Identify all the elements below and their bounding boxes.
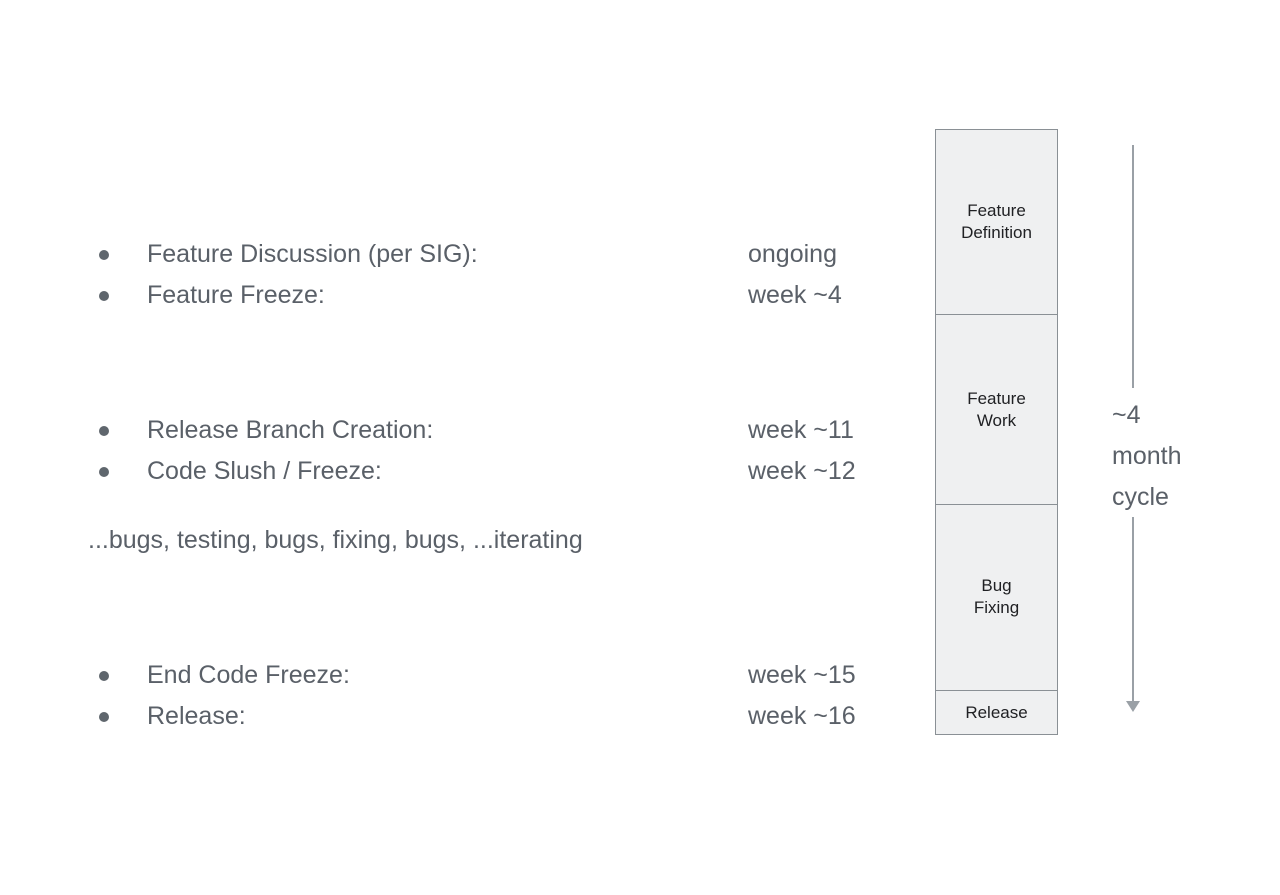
milestone-row: Release: week ~16 bbox=[0, 696, 930, 737]
milestone-label: Code Slush / Freeze: bbox=[147, 451, 382, 492]
milestone-label: End Code Freeze: bbox=[147, 655, 350, 696]
bullet-point-icon bbox=[99, 712, 109, 722]
milestone-row: Release Branch Creation: week ~11 bbox=[0, 410, 930, 451]
milestone-row: Feature Discussion (per SIG): ongoing bbox=[0, 234, 930, 275]
milestone-label: Feature Discussion (per SIG): bbox=[147, 234, 478, 275]
milestone-value: week ~11 bbox=[748, 410, 854, 451]
cycle-duration-label: ~4 month cycle bbox=[1112, 395, 1181, 518]
milestone-value: ongoing bbox=[748, 234, 837, 275]
milestone-label: Feature Freeze: bbox=[147, 275, 325, 316]
milestone-value: week ~12 bbox=[748, 451, 856, 492]
milestone-row: Code Slush / Freeze: week ~12 bbox=[0, 451, 930, 492]
phase-segment-feature-definition: Feature Definition bbox=[936, 130, 1057, 315]
iterating-note: ...bugs, testing, bugs, fixing, bugs, ..… bbox=[88, 521, 583, 559]
bullet-point-icon bbox=[99, 671, 109, 681]
bullet-point-icon bbox=[99, 426, 109, 436]
bullet-point-icon bbox=[99, 467, 109, 477]
milestone-list: Feature Discussion (per SIG): ongoing Fe… bbox=[0, 0, 930, 895]
phase-segment-feature-work: Feature Work bbox=[936, 315, 1057, 504]
milestone-group: Feature Discussion (per SIG): ongoing Fe… bbox=[0, 234, 930, 316]
milestone-row: End Code Freeze: week ~15 bbox=[0, 655, 930, 696]
bullet-point-icon bbox=[99, 291, 109, 301]
cycle-arrow-line-upper bbox=[1132, 145, 1134, 388]
milestone-row: Feature Freeze: week ~4 bbox=[0, 275, 930, 316]
milestone-group: End Code Freeze: week ~15 Release: week … bbox=[0, 655, 930, 737]
cycle-arrow-head-icon bbox=[1126, 701, 1140, 712]
phase-segment-release: Release bbox=[936, 691, 1057, 734]
cycle-duration-annotation: ~4 month cycle bbox=[1100, 129, 1260, 735]
phase-segment-bug-fixing: Bug Fixing bbox=[936, 505, 1057, 691]
milestone-value: week ~15 bbox=[748, 655, 856, 696]
milestone-group: Release Branch Creation: week ~11 Code S… bbox=[0, 410, 930, 492]
milestone-label: Release: bbox=[147, 696, 246, 737]
release-phase-bar: Feature Definition Feature Work Bug Fixi… bbox=[935, 129, 1058, 735]
bullet-point-icon bbox=[99, 250, 109, 260]
milestone-label: Release Branch Creation: bbox=[147, 410, 433, 451]
cycle-arrow-line-lower bbox=[1132, 517, 1134, 703]
milestone-value: week ~16 bbox=[748, 696, 856, 737]
milestone-value: week ~4 bbox=[748, 275, 842, 316]
